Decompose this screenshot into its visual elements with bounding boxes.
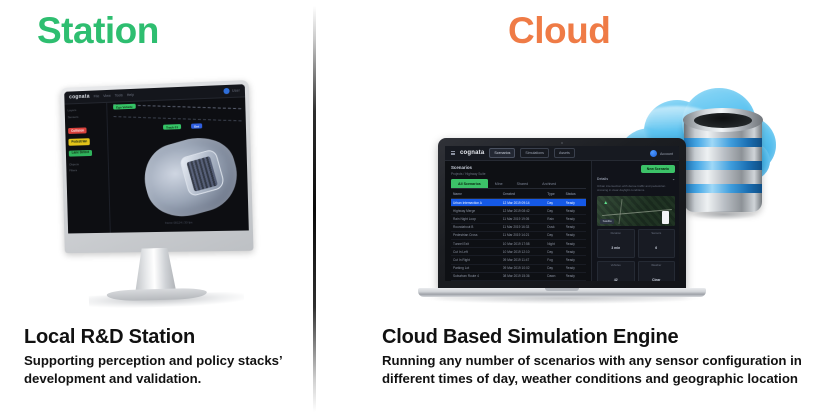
stat-value: 6 [655,246,657,250]
monitor-sidebar: Layers Sensors Collision Pedestrian Lane… [65,103,111,234]
cloud-caption-body: Running any number of scenarios with any… [382,352,814,388]
avatar-icon [650,150,657,157]
monitor-menu-help[interactable]: Help [127,93,134,97]
map-thumbnail[interactable]: ▲ Satellite [597,196,675,226]
table-row[interactable]: Roundabout B 11 Mar 2019 16:33 Dusk Read… [451,224,586,232]
stat-label: Weather [641,264,673,267]
monitor-account-label: User [232,88,240,92]
monitor-badge-lane-detect[interactable]: Lane Detect [69,150,92,157]
table-body: Urban Intersection A 12 Mar 2019 09:14 D… [451,199,586,281]
laptop-lid: cognata Scenarios Simulations Assets Acc… [438,138,686,290]
chevron-down-icon[interactable]: ⌄ [672,177,675,181]
cell-status: Ready [566,266,584,270]
monitor-sidebar-row-sensors[interactable]: Sensors [68,114,104,119]
imac-bezel: cognata File View Tools Help User Layers… [64,84,249,233]
detail-panel-heading: Details ⌄ [597,177,675,181]
stat-sensors: Sensors 6 [638,229,676,258]
monitor-tag-track[interactable]: Track 01 [163,124,181,130]
monitor-menu-tools[interactable]: Tools [115,93,123,97]
cloud-caption-title: Cloud Based Simulation Engine [382,326,814,348]
avatar-icon [224,88,230,94]
laptop-drop-shadow [424,297,700,304]
stat-duration: Duration 3 min [597,229,635,258]
stat-label: Duration [600,232,632,235]
detail-description: Urban intersection with dense traffic an… [597,184,675,193]
table-row[interactable]: Tunnel Exit 10 Mar 2019 17:58 Night Read… [451,240,586,248]
monitor-screen: cognata File View Tools Help User Layers… [64,84,249,233]
cell-created: 12 Mar 2019 09:14 [503,201,548,205]
stat-label: Sensors [641,232,673,235]
column-header-name[interactable]: Name [453,192,503,196]
menu-icon[interactable] [451,151,455,155]
table-header: Name Created Type Status [451,189,586,199]
cell-type: Day [547,233,565,237]
cell-status: Ready [566,233,584,237]
vertical-divider [313,6,316,412]
monitor-badge-collision[interactable]: Collision [68,128,87,135]
webcam-icon [561,142,563,144]
stat-vehicles: Vehicles 42 [597,261,635,281]
cell-status: Ready [566,201,584,205]
monitor-status-footer: frame 00124 | 30 fps [112,219,246,226]
macbook-laptop: cognata Scenarios Simulations Assets Acc… [418,138,706,310]
monitor-tag-ego-vehicle[interactable]: Ego Vehicle [113,104,136,110]
cell-created: 09 Mar 2019 11:47 [503,258,548,262]
page-title: Scenarios [451,165,586,170]
column-header-status[interactable]: Status [566,192,584,196]
cell-name: Highway Merge [453,209,503,213]
monitor-viewport: Ego Vehicle Track 01 Det frame 00124 | 3… [107,97,249,232]
database-top-opening [694,113,752,128]
cloud-caption: Cloud Based Simulation Engine Running an… [382,326,814,388]
cell-status: Ready [566,225,584,229]
table-row[interactable]: Pedestrian Cross 11 Mar 2019 14:21 Day R… [451,232,586,240]
cell-status: Ready [566,242,584,246]
cell-status: Ready [566,209,584,213]
cell-created: 12 Mar 2019 08:42 [503,209,548,213]
cell-name: Urban Intersection A [453,201,503,205]
breadcrumb: Projects / Highway Suite [451,172,586,176]
station-caption-title: Local R&D Station [24,326,299,348]
cell-created: 11 Mar 2019 19:05 [503,217,548,221]
map-type-label[interactable]: Satellite [600,219,614,224]
monitor-tag-detection[interactable]: Det [191,123,202,128]
dashboard-body: Scenarios Projects / Highway Suite All S… [445,161,679,281]
cell-name: Parking Lot [453,266,503,270]
cell-created: 11 Mar 2019 14:21 [503,233,548,237]
monitor-sidebar-row-filters[interactable]: Filters [69,168,105,173]
cell-type: Day [547,201,565,205]
cognata-logo: cognata [460,150,484,156]
station-kicker-title: Station [37,12,159,49]
cell-type: Rain [547,217,565,221]
cell-name: Cut In Left [453,250,503,254]
stat-value: Clear [652,278,660,281]
imac-desktop-monitor: cognata File View Tools Help User Layers… [53,81,259,306]
dashboard-topbar: cognata Scenarios Simulations Assets Acc… [445,146,679,161]
monitor-sidebar-row-layers[interactable]: Layers [68,107,104,112]
topbar-pill-assets[interactable]: Assets [554,148,575,157]
tab-archived[interactable]: Archived [535,179,563,188]
cell-type: Night [547,242,565,246]
stat-weather: Weather Clear [638,261,676,281]
monitor-menu-file[interactable]: File [94,94,100,98]
detail-heading-label: Details [597,177,608,181]
tab-mine[interactable]: Mine [488,179,510,188]
map-legend-block [662,211,669,224]
lane-line-2 [114,116,242,121]
cell-status: Ready [566,274,584,278]
stat-label: Vehicles [600,264,632,267]
table-row[interactable]: Suburban Route 4 08 Mar 2019 15:36 Dawn … [451,273,586,281]
cell-name: Suburban Route 4 [453,274,503,278]
tab-shared[interactable]: Shared [510,179,536,188]
monitor-account[interactable]: User [224,87,240,94]
topbar-pill-scenarios[interactable]: Scenarios [489,148,515,157]
cell-status: Ready [566,258,584,262]
cell-status: Ready [566,250,584,254]
dashboard-main: Scenarios Projects / Highway Suite All S… [445,161,591,281]
cell-name: Roundabout B [453,225,503,229]
cell-type: Day [547,266,565,270]
column-header-created[interactable]: Created [503,192,548,196]
detail-panel: New Scenario Details ⌄ Urban intersectio… [591,161,679,281]
monitor-logo: cognata [69,94,90,101]
station-caption-body: Supporting perception and policy stacks’… [24,352,299,388]
topbar-pill-simulations[interactable]: Simulations [520,148,549,157]
table-row[interactable]: Parking Lot 09 Mar 2019 10:02 Day Ready [451,265,586,273]
cell-created: 09 Mar 2019 10:02 [503,266,548,270]
cell-status: Ready [566,217,584,221]
tab-bar: All Scenarios Mine Shared Archived [451,179,586,189]
slide-root: Station Cloud cognata File View Tools He… [0,0,820,418]
cloud-kicker-title: Cloud [508,12,610,49]
laptop-screen: cognata Scenarios Simulations Assets Acc… [445,146,679,281]
tab-all-scenarios[interactable]: All Scenarios [451,179,488,188]
cell-created: 10 Mar 2019 17:58 [503,242,548,246]
cell-type: Fog [547,258,565,262]
table-row[interactable]: Highway Merge 12 Mar 2019 08:42 Day Read… [451,207,586,215]
cell-type: Day [547,250,565,254]
column-header-type[interactable]: Type [547,192,565,196]
cell-type: Dawn [547,274,565,278]
monitor-sidebar-row-objects[interactable]: Objects [69,161,105,166]
map-pin-icon: ▲ [603,200,608,206]
table-row[interactable]: Cut In Left 10 Mar 2019 12:10 Day Ready [451,248,586,256]
cell-type: Dusk [547,225,565,229]
stat-value: 3 min [611,246,620,250]
stats-grid: Duration 3 min Sensors 6 Vehicles 42 [597,229,675,282]
cell-name: Pedestrian Cross [453,233,503,237]
table-row[interactable]: Cut In Right 09 Mar 2019 11:47 Fog Ready [451,256,586,264]
map-road-vertical [619,199,623,224]
stat-value: 42 [614,278,618,281]
cell-name: Cut In Right [453,258,503,262]
cell-created: 10 Mar 2019 12:10 [503,250,548,254]
table-row[interactable]: Rain Night Loop 11 Mar 2019 19:05 Rain R… [451,215,586,223]
new-scenario-button[interactable]: New Scenario [641,165,675,173]
vehicle-3d-model [136,129,245,225]
table-row[interactable]: Urban Intersection A 12 Mar 2019 09:14 D… [451,199,586,207]
topbar-account[interactable]: Account [650,150,673,157]
cell-name: Rain Night Loop [453,217,503,221]
laptop-base-notch [545,288,579,291]
topbar-account-label: Account [660,152,673,156]
monitor-menu-view[interactable]: View [103,94,111,98]
cell-created: 08 Mar 2019 15:36 [503,274,548,278]
cell-name: Tunnel Exit [453,242,503,246]
cell-created: 11 Mar 2019 16:33 [503,225,548,229]
imac-body: cognata File View Tools Help User Layers… [60,80,253,253]
monitor-badge-pedestrian[interactable]: Pedestrian [68,139,90,146]
cell-type: Day [547,209,565,213]
station-caption: Local R&D Station Supporting perception … [24,326,299,388]
